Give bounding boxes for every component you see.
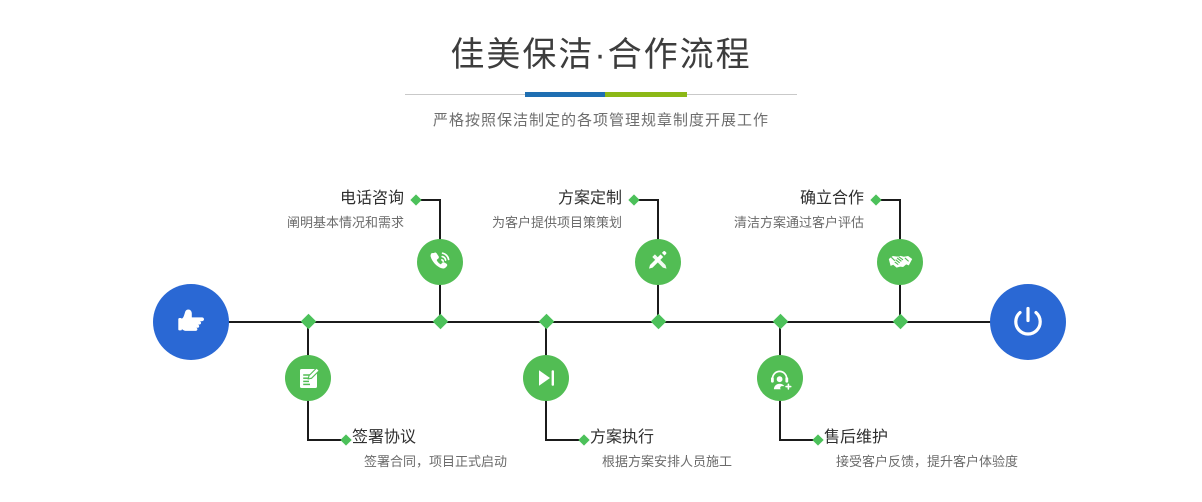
customer-service-icon [768,366,793,391]
process-flow-diagram: 电话咨询 阐明基本情况和需求 签署协议 签署合同，项目 [0,0,1202,502]
step-label-6: 售后维护 接受客户反馈，提升客户体验度 [824,428,1104,472]
step-subtitle-4: 根据方案安排人员施工 [590,452,850,472]
handshake-icon [887,249,914,276]
flow-start-node [153,284,229,360]
axis-marker-2 [301,314,317,330]
axis-marker-1 [433,314,449,330]
step-subtitle-2: 签署合同，项目正式启动 [352,452,612,472]
step-icon-6[interactable] [757,355,803,401]
step-subtitle-5: 清洁方案通过客户评估 [612,213,864,233]
phone-call-icon [427,249,453,275]
hand-point-right-icon [171,302,211,342]
step-label-5: 确立合作 清洁方案通过客户评估 [612,189,864,233]
step-title-6: 售后维护 [824,428,1104,448]
document-edit-icon [296,366,321,391]
step-label-1: 电话咨询 阐明基本情况和需求 [150,189,404,233]
connector-tip-2 [340,434,351,445]
connector-tip-5 [870,194,881,205]
play-execute-icon [534,366,558,390]
step-label-4: 方案执行 根据方案安排人员施工 [590,428,850,472]
axis-marker-6 [773,314,789,330]
flow-infographic-page: 佳美保洁·合作流程 严格按照保洁制定的各项管理规章制度开展工作 [0,0,1202,502]
axis-marker-4 [539,314,555,330]
step-label-2: 签署协议 签署合同，项目正式启动 [352,428,612,472]
step-label-3: 方案定制 为客户提供项目策策划 [370,189,622,233]
step-icon-1[interactable] [417,239,463,285]
step-icon-2[interactable] [285,355,331,401]
pencil-plan-icon [645,249,671,275]
step-subtitle-3: 为客户提供项目策策划 [370,213,622,233]
power-icon [1007,301,1049,343]
step-title-5: 确立合作 [612,189,864,209]
step-title-1: 电话咨询 [150,189,404,209]
step-title-2: 签署协议 [352,428,612,448]
step-subtitle-1: 阐明基本情况和需求 [150,213,404,233]
step-icon-4[interactable] [523,355,569,401]
axis-marker-5 [893,314,909,330]
connector-elbow-2 [307,439,344,441]
step-title-3: 方案定制 [370,189,622,209]
step-subtitle-6: 接受客户反馈，提升客户体验度 [824,452,1104,472]
step-title-4: 方案执行 [590,428,850,448]
flow-end-node [990,284,1066,360]
step-icon-5[interactable] [877,239,923,285]
step-icon-3[interactable] [635,239,681,285]
axis-marker-3 [651,314,667,330]
